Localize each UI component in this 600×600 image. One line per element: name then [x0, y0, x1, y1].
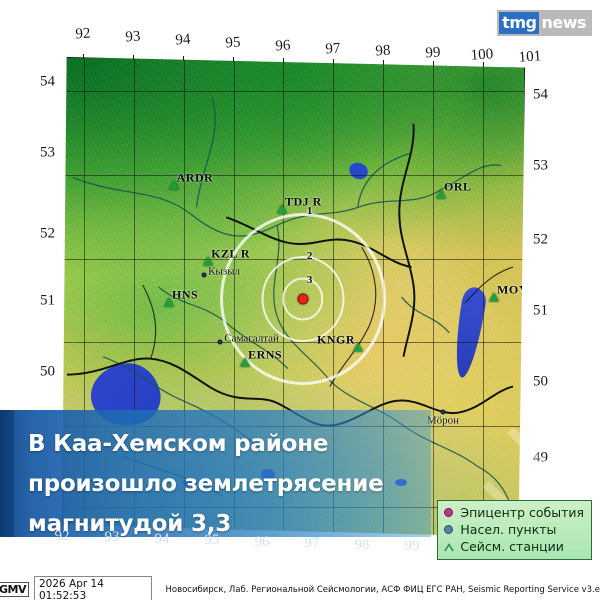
station-label: KZL R — [211, 247, 250, 262]
tmgnews-logo: tmg news — [497, 10, 592, 36]
axis-tick — [383, 60, 384, 65]
headline-banner: В Каа-Хемском районе произошло землетряс… — [0, 410, 431, 537]
city-dot-icon — [217, 340, 222, 345]
legend-row-epicentre: Эпицентр события — [443, 504, 584, 521]
station-label: HNS — [172, 287, 198, 302]
station-ardr: ARDR — [169, 180, 179, 189]
station-label: ORL — [444, 180, 472, 195]
legend-row-stations: Сейсм. станции — [443, 538, 584, 555]
lat-label-right: 54 — [533, 87, 548, 104]
station-kngr: KNGR — [353, 343, 363, 352]
station-label: ARDR — [177, 170, 214, 185]
lat-label-left: 50 — [40, 364, 55, 381]
city-label: Кызыл — [208, 266, 240, 278]
lon-label-bottom: 96 — [255, 534, 270, 551]
lon-label-top: 97 — [325, 40, 341, 58]
lat-label-left: 53 — [40, 145, 55, 162]
lon-label-top: 96 — [275, 37, 291, 55]
gmv-badge: GMV — [0, 582, 29, 597]
epicentre-circle-icon — [443, 508, 454, 517]
lon-label-bottom: 98 — [355, 537, 370, 554]
station-label: KNGR — [317, 333, 355, 348]
legend-label: Насел. пункты — [460, 522, 556, 537]
seismic-report-screenshot: tmg news — [0, 0, 600, 600]
ring-label-2: 2 — [307, 250, 313, 262]
city-circle-icon — [443, 525, 454, 534]
city-moron: Мöрон — [441, 409, 446, 414]
map-legend: Эпицентр события Насел. пункты Сейсм. ст… — [437, 500, 592, 560]
logo-primary-text: tmg — [499, 12, 539, 34]
lat-label-left: 54 — [40, 74, 55, 91]
axis-tick — [133, 55, 134, 60]
axis-tick — [233, 57, 234, 62]
lon-label-top: 93 — [125, 28, 141, 46]
lat-label-right: 51 — [533, 303, 548, 320]
lon-label-bottom: 92 — [55, 528, 70, 545]
axis-tick — [83, 54, 84, 59]
epicentre-marker — [297, 294, 308, 305]
lat-label-right: 52 — [533, 232, 548, 249]
lon-label-top: 94 — [175, 31, 191, 49]
axis-tick — [283, 58, 284, 63]
lat-label-right: 53 — [533, 158, 548, 175]
city-kyzyl: Кызыл — [201, 273, 206, 278]
headline-line-1: В Каа-Хемском районе — [28, 424, 413, 464]
station-tdjr: TDJ R — [277, 204, 287, 213]
lon-label-top: 95 — [225, 34, 241, 52]
logo-secondary-text: news — [539, 12, 589, 34]
footer-status-bar: GMV 2026 Apr 14 01:52:53 Новосибирск, Ла… — [0, 578, 600, 600]
station-label: TDJ R — [285, 194, 322, 209]
station-orl: ORL — [436, 190, 446, 199]
credit-text: Новосибирск, Лаб. Региональной Сейсмолог… — [166, 585, 600, 595]
axis-tick — [483, 62, 484, 67]
timestamp-field: 2026 Apr 14 01:52:53 — [34, 576, 152, 600]
headline-line-2: произошло землетрясение — [28, 464, 413, 504]
city-samagaltay: Самагалтай — [217, 340, 222, 345]
headline-accent-strip — [0, 410, 14, 537]
lon-label-top: 92 — [75, 25, 91, 43]
station-triangle-icon — [443, 543, 454, 551]
axis-tick — [333, 59, 334, 64]
legend-row-cities: Насел. пункты — [443, 521, 584, 538]
station-label: ERNS — [248, 347, 282, 362]
station-kzlr: KZL R — [203, 257, 213, 266]
lat-label-right: 49 — [533, 450, 548, 467]
station-erns: ERNS — [240, 357, 250, 366]
station-label: MOY — [497, 283, 525, 298]
axis-tick — [183, 56, 184, 61]
axis-tick — [433, 61, 434, 66]
lon-label-bottom: 99 — [405, 538, 420, 555]
station-hns: HNS — [164, 297, 174, 306]
city-label: Мöрон — [427, 414, 459, 426]
lon-label-bottom: 97 — [305, 535, 320, 552]
lat-label-left: 52 — [40, 226, 55, 243]
ring-label-3: 3 — [307, 274, 313, 286]
legend-label: Сейсм. станции — [460, 539, 564, 554]
legend-label: Эпицентр события — [460, 505, 584, 520]
lat-label-left: 51 — [40, 293, 55, 310]
station-moy: MOY — [489, 293, 499, 302]
lat-label-right: 50 — [533, 374, 548, 391]
city-label: Самагалтай — [224, 333, 279, 345]
lon-label-bottom: 94 — [155, 531, 170, 548]
lon-label-bottom: 93 — [105, 529, 120, 546]
city-dot-icon — [201, 273, 206, 278]
lon-label-bottom: 95 — [205, 532, 220, 549]
